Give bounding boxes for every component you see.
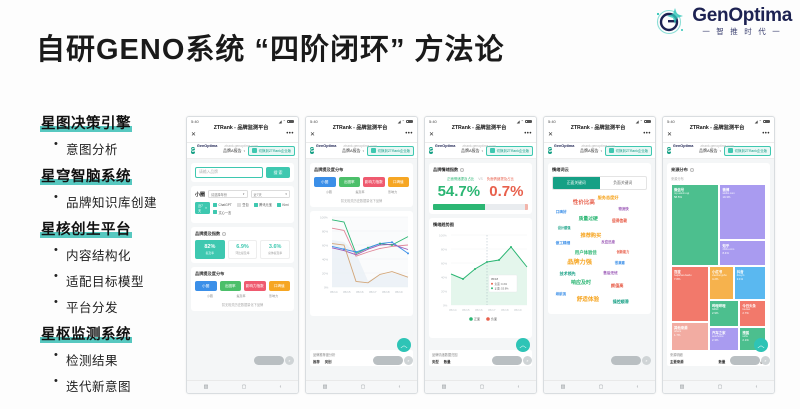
word-cloud-term[interactable]: 用户体验佳 bbox=[575, 251, 597, 255]
card-subtitle: 来源分布 bbox=[671, 176, 766, 181]
treemap-node-domain: mp.weixin.qq bbox=[674, 192, 716, 195]
more-icon[interactable]: ••• bbox=[405, 131, 413, 137]
positive-segment bbox=[433, 204, 485, 210]
metric-label: 总体提及率 bbox=[261, 251, 289, 255]
search-icon[interactable]: ⌕ bbox=[642, 356, 651, 365]
outline-heading-3: 星枢监测系统 bbox=[40, 323, 132, 344]
card-title: 品牌提及度分布 bbox=[195, 271, 290, 277]
phone-sentiment: 5:40 ◢⌃ ✕ ZTRank - 品牌监测平台 ztrank.genopti… bbox=[424, 116, 537, 394]
phone-intent-analysis: 5:40 ◢⌃ ✕ ZTRank - 品牌监测平台 ztrank.genopti… bbox=[186, 116, 299, 394]
treemap-node[interactable]: 哔哩哔哩bilibili2.9% bbox=[709, 300, 739, 327]
battery-icon bbox=[287, 120, 294, 124]
card-title: 品牌提及度分布 bbox=[314, 167, 409, 173]
logo-tagline: 一 智 推 时 代 一 bbox=[702, 28, 782, 36]
treemap-node-percent: 2.7% bbox=[742, 311, 763, 315]
android-navbar: ▥ ▢ ‹ bbox=[187, 380, 298, 393]
outline-item: 迭代新意图 bbox=[54, 376, 190, 395]
checkbox-icon bbox=[277, 203, 281, 207]
word-cloud-term[interactable]: 品牌力强 bbox=[567, 260, 592, 266]
webview-title: ZTRank - 品牌监测平台 bbox=[214, 125, 269, 131]
back-icon[interactable]: ‹ bbox=[518, 384, 520, 390]
svg-text:05/19: 05/19 bbox=[514, 308, 522, 312]
info-icon bbox=[222, 232, 226, 236]
home-icon[interactable]: ▢ bbox=[361, 384, 366, 390]
card-title: 情绪词云 bbox=[552, 167, 647, 173]
app-logo-icon bbox=[429, 147, 433, 154]
battery-icon bbox=[644, 120, 651, 124]
home-icon[interactable]: ▢ bbox=[480, 384, 485, 390]
svg-text:0%: 0% bbox=[324, 286, 329, 290]
methodology-outline: 星图决策引擎 意图分析 星穹智脑系统 品牌知识库创建 星核创生平台 内容结构化 … bbox=[40, 112, 190, 402]
year-select[interactable]: 请选择年份▾ bbox=[208, 190, 248, 198]
word-cloud-term[interactable]: 质量过硬 bbox=[579, 218, 598, 223]
model-checkbox-group: ChatGPT 豆包 腾讯元宝 Kimi 文心一言 bbox=[213, 202, 290, 215]
android-navbar: ▥ ▢ ‹ bbox=[544, 380, 655, 393]
pill-button[interactable]: 小圈 bbox=[195, 281, 217, 291]
svg-text:05/15: 05/15 bbox=[343, 290, 351, 294]
info-icon bbox=[690, 168, 694, 172]
outline-group-3: 星枢监测系统 检测结果 迭代新意图 bbox=[40, 323, 190, 395]
back-icon[interactable]: ‹ bbox=[399, 384, 401, 390]
toolbar-bar[interactable] bbox=[611, 356, 641, 365]
metric-value: 3.6% bbox=[261, 244, 289, 250]
app-logo-icon bbox=[667, 147, 671, 154]
outline-item: 平台分发 bbox=[54, 297, 190, 316]
back-icon[interactable]: ‹ bbox=[637, 384, 639, 390]
treemap-node-percent: 58.5% bbox=[674, 195, 716, 199]
toolbar-bar[interactable] bbox=[730, 356, 760, 365]
search-icon[interactable]: ⌕ bbox=[523, 356, 532, 365]
table-header: 推荐 bbox=[313, 359, 320, 364]
pill-button[interactable]: 出圈率 bbox=[339, 177, 361, 187]
svg-text:0%: 0% bbox=[443, 304, 448, 308]
pill-button[interactable]: 影响力指数 bbox=[244, 281, 266, 291]
word-cloud-term[interactable]: 口碑好 bbox=[556, 211, 567, 215]
sentiment-progress-bar bbox=[433, 204, 528, 210]
scroll-to-top-button[interactable]: ︿ bbox=[516, 338, 530, 352]
svg-text:负面: 0.4%: 负面: 0.4% bbox=[495, 282, 508, 286]
empty-note: 暂无相关历史数据量化下品牌 bbox=[195, 302, 290, 307]
treemap-node-domain: bilibili bbox=[712, 308, 736, 311]
word-cloud-term[interactable]: 操控顺滑 bbox=[613, 300, 629, 304]
webview-url: ztrank.genoptima.com bbox=[224, 144, 257, 148]
table-header: 主要来源 bbox=[670, 359, 684, 364]
toolbar-bar[interactable] bbox=[254, 356, 284, 365]
pill-axis-labels: 小圈 提及率 影响力 bbox=[314, 190, 409, 194]
checkbox-icon bbox=[237, 203, 241, 207]
outline-item: 内容结构化 bbox=[54, 245, 190, 264]
distribution-card: 品牌提及度分布 小圈 出圈率 影响力指数 口碑值 小圈 提及率 影响力 暂无相关… bbox=[191, 267, 294, 311]
sentiment-values: 54.7% 0.7% bbox=[433, 183, 528, 200]
svg-text:05/16: 05/16 bbox=[475, 308, 483, 312]
outline-group-0: 星图决策引擎 意图分析 bbox=[40, 112, 190, 158]
app-logo-icon bbox=[310, 147, 314, 154]
treemap-node[interactable]: 抖音douyin3.1% bbox=[734, 266, 766, 300]
more-icon[interactable]: ••• bbox=[286, 131, 294, 137]
positive-label: 正面情绪提及占比 bbox=[447, 176, 474, 181]
treemap-node-percent: 2.3% bbox=[712, 338, 736, 342]
card-title: 品牌情绪指数 bbox=[433, 167, 528, 173]
search-button[interactable]: 搜 索 bbox=[266, 167, 290, 178]
treemap-node-percent: 4.2% bbox=[712, 277, 731, 281]
word-cloud-term[interactable]: 舒适体验 bbox=[577, 298, 599, 304]
treemap-node-domain: weibo.com bbox=[722, 192, 763, 195]
treemap-node-percent: 7.8% bbox=[674, 277, 706, 281]
svg-text:正面: 53.9%: 正面: 53.9% bbox=[495, 286, 510, 290]
svg-text:80%: 80% bbox=[441, 248, 447, 252]
svg-text:正面: 正面 bbox=[474, 317, 480, 321]
table-header: 数量 bbox=[444, 359, 451, 364]
treemap-node-percent: 2.9% bbox=[712, 311, 736, 315]
treemap-node[interactable]: 小红书xiaohongshu4.2% bbox=[709, 266, 734, 300]
logo-wordmark: GenOptima bbox=[692, 6, 792, 25]
webview-titlebar: ✕ ZTRank - 品牌监测平台 ztrank.genoptima.com •… bbox=[544, 126, 655, 143]
filter-label: 小圈 bbox=[195, 191, 205, 198]
outline-heading-0: 星图决策引擎 bbox=[40, 112, 132, 133]
svg-text:60%: 60% bbox=[322, 244, 328, 248]
axis-label: 小圈 bbox=[326, 190, 332, 194]
battery-icon bbox=[406, 120, 413, 124]
toolbar-bar[interactable] bbox=[492, 356, 522, 365]
phone-screenshot-row: 5:40 ◢⌃ ✕ ZTRank - 品牌监测平台 ztrank.genopti… bbox=[186, 116, 775, 394]
scroll-to-top-button[interactable]: ︿ bbox=[397, 338, 411, 352]
home-icon[interactable]: ▢ bbox=[599, 384, 604, 390]
word-cloud-term[interactable]: 做工精细 bbox=[556, 242, 570, 246]
chevron-down-icon: ▾ bbox=[243, 192, 245, 196]
app-logo-icon bbox=[191, 147, 195, 154]
treemap-node[interactable]: 微博weibo.com19.3% bbox=[719, 184, 766, 240]
android-navbar: ▥ ▢ ‹ bbox=[663, 380, 774, 393]
card-title: 品牌提及指数 bbox=[195, 231, 290, 237]
pill-axis-labels: 小圈 提及率 影响力 bbox=[195, 294, 290, 298]
checkbox-icon bbox=[213, 210, 217, 214]
phone-content: 来源分布 来源分布 微信号mp.weixin.qq58.5%微博weibo.co… bbox=[663, 159, 774, 380]
treemap-node[interactable]: 微信号mp.weixin.qq58.5% bbox=[671, 184, 719, 266]
metric-card[interactable]: 82% 提及率 bbox=[195, 240, 225, 260]
outline-group-1: 星穹智脑系统 品牌知识库创建 bbox=[40, 165, 190, 211]
outline-heading-1: 星穹智脑系统 bbox=[40, 165, 132, 186]
webview-titlebar: ✕ ZTRank - 品牌监测平台 ztrank.genoptima.com •… bbox=[425, 126, 536, 143]
chevron-down-icon: ▾ bbox=[285, 192, 287, 196]
pill-button[interactable]: 口碑值 bbox=[388, 177, 410, 187]
webview-titlebar: ✕ ZTRank - 品牌监测平台 ztrank.genoptima.com •… bbox=[306, 126, 417, 143]
pill-button[interactable]: 口碑值 bbox=[269, 281, 291, 291]
axis-label: 影响力 bbox=[269, 294, 278, 298]
close-icon: × bbox=[205, 206, 207, 210]
treemap-node-percent: 3.1% bbox=[737, 277, 763, 281]
word-cloud: 性价比高服务态度好口碑好物流快质量过硬值得信赖设计感强推荐购买做工精细反应迅速用… bbox=[552, 194, 647, 312]
outline-item: 意图分析 bbox=[54, 139, 190, 158]
word-cloud-term[interactable]: 响应及时 bbox=[571, 281, 591, 286]
svg-text:100%: 100% bbox=[320, 216, 328, 220]
negative-label: 负面情绪提及占比 bbox=[487, 176, 514, 181]
table-header: 类型 bbox=[432, 359, 439, 364]
treemap-node-percent: 1.7% bbox=[674, 333, 706, 337]
negative-segment bbox=[525, 204, 528, 210]
sentiment-area-chart: 100%80%60% 40%20%0% 05/1405/1505/16 05/1… bbox=[433, 231, 528, 334]
tab-positive-keywords[interactable]: 正面关键词 bbox=[553, 177, 600, 189]
word-cloud-term[interactable]: 反应迅速 bbox=[601, 241, 615, 244]
outline-item: 适配目标模型 bbox=[54, 271, 190, 290]
treemap-node-domain: autohome bbox=[712, 335, 736, 338]
outline-item: 品牌知识库创建 bbox=[54, 192, 190, 211]
pill-group: 小圈 出圈率 影响力指数 口碑值 bbox=[314, 177, 409, 187]
phone-content: 请输入品牌 搜 索 小圈 请选择年份▾ 近7天▾ 近7天× ChatGPT 豆包… bbox=[187, 159, 298, 380]
phone-keyword-cloud: 5:40 ◢⌃ ✕ ZTRank - 品牌监测平台 ztrank.genopti… bbox=[543, 116, 656, 394]
treemap-node-domain: baijiahao.baidu bbox=[674, 274, 706, 277]
svg-text:20%: 20% bbox=[441, 290, 447, 294]
treemap-node-domain: zhihu.com bbox=[722, 248, 763, 251]
metric-label: 提及率 bbox=[196, 251, 224, 255]
empty-note: 暂无相关历史数据量化下品牌 bbox=[314, 198, 409, 203]
webview-url: ztrank.genoptima.com bbox=[700, 144, 733, 148]
battery-icon bbox=[763, 120, 770, 124]
sentiment-tab-switch: 正面关键词 负面关键词 bbox=[552, 176, 647, 190]
keyword-cloud-card: 情绪词云 正面关键词 负面关键词 性价比高服务态度好口碑好物流快质量过硬值得信赖… bbox=[548, 163, 651, 314]
word-cloud-term[interactable]: 服务态度好 bbox=[598, 196, 619, 200]
word-cloud-term[interactable]: 续航强 bbox=[556, 293, 566, 296]
word-cloud-term[interactable]: 售后无忧 bbox=[603, 272, 617, 276]
positive-value: 54.7% bbox=[438, 183, 481, 200]
search-card: 请输入品牌 搜 索 bbox=[191, 163, 294, 182]
brand-trend-line-chart: 100%80%60% 40%20%0% 05/1405/1505/16 05/1… bbox=[314, 215, 409, 312]
treemap-node-percent: 19.3% bbox=[722, 195, 763, 199]
more-icon[interactable]: ••• bbox=[643, 131, 651, 137]
word-cloud-term[interactable]: 物流快 bbox=[619, 208, 629, 211]
treemap-node-domain: xiaohongshu bbox=[712, 274, 731, 277]
webview-title: ZTRank - 品牌监测平台 bbox=[690, 125, 745, 131]
floating-toolbar[interactable]: ⌕ bbox=[611, 356, 651, 365]
word-cloud-term[interactable]: 值得信赖 bbox=[612, 220, 627, 224]
treemap-node-domain: toutiao bbox=[742, 308, 763, 311]
scroll-to-top-button[interactable]: ︿ bbox=[754, 338, 768, 352]
svg-text:05/16: 05/16 bbox=[356, 290, 364, 294]
webview-url: ztrank.genoptima.com bbox=[343, 144, 376, 148]
metric-value: 6.9% bbox=[229, 244, 257, 250]
pill-group: 小圈 出圈率 影响力指数 口碑值 bbox=[195, 281, 290, 291]
phone-content: 品牌提及度分布 小圈 出圈率 影响力指数 口碑值 小圈 提及率 影响力 暂无相关… bbox=[306, 159, 417, 380]
svg-text:40%: 40% bbox=[322, 258, 328, 262]
metric-card[interactable]: 3.6% 总体提及率 bbox=[260, 240, 290, 260]
page-title: 自研GENO系统 “四阶闭环” 方法论 bbox=[36, 26, 505, 68]
outline-heading-2: 星核创生平台 bbox=[40, 218, 132, 239]
axis-label: 提及率 bbox=[355, 190, 364, 194]
metric-card[interactable]: 6.9% 环比提及率 bbox=[228, 240, 258, 260]
pill-button[interactable]: 出圈率 bbox=[220, 281, 242, 291]
axis-label: 小圈 bbox=[207, 294, 213, 298]
word-cloud-term[interactable]: 性价比高 bbox=[573, 201, 595, 207]
svg-text:05/18: 05/18 bbox=[491, 277, 498, 281]
recents-icon[interactable]: ▥ bbox=[442, 384, 447, 390]
floating-toolbar[interactable]: ⌕ bbox=[730, 356, 770, 365]
word-cloud-term[interactable]: 设计感强 bbox=[558, 227, 571, 230]
treemap-node-domain: douyin bbox=[737, 274, 763, 277]
sentiment-labels: 正面情绪提及占比 VS 负面情绪提及占比 bbox=[433, 176, 528, 181]
android-navbar: ▥ ▢ ‹ bbox=[425, 380, 536, 393]
sentiment-trend-card: 情绪趋势图 100%80%60% 40%20%0% 05/1405/1505/1… bbox=[429, 218, 532, 338]
android-navbar: ▥ ▢ ‹ bbox=[306, 380, 417, 393]
more-icon[interactable]: ••• bbox=[524, 131, 532, 137]
webview-url: ztrank.genoptima.com bbox=[462, 144, 495, 148]
battery-icon bbox=[525, 120, 532, 124]
word-cloud-term[interactable]: 技术领先 bbox=[560, 272, 576, 276]
checkbox-icon bbox=[213, 203, 217, 207]
treemap-node-percent: 8.4% bbox=[722, 251, 763, 255]
word-cloud-term[interactable]: 推荐购买 bbox=[581, 234, 602, 239]
outline-item: 检测结果 bbox=[54, 350, 190, 369]
webview-url: ztrank.genoptima.com bbox=[581, 144, 614, 148]
pill-button[interactable]: 影响力指数 bbox=[363, 177, 385, 187]
axis-label: 提及率 bbox=[236, 294, 245, 298]
card-title: 情绪趋势图 bbox=[433, 222, 528, 228]
recents-icon[interactable]: ▥ bbox=[204, 384, 209, 390]
webview-title: ZTRank - 品牌监测平台 bbox=[452, 125, 507, 131]
brand-search-input[interactable]: 请输入品牌 bbox=[195, 167, 263, 178]
treemap-node-domain: others bbox=[674, 330, 706, 333]
negative-value: 0.7% bbox=[489, 183, 523, 200]
svg-text:05/19: 05/19 bbox=[395, 290, 403, 294]
phone-source-treemap: 5:40 ◢⌃ ✕ ZTRank - 品牌监测平台 ztrank.genopti… bbox=[662, 116, 775, 394]
svg-text:负面: 负面 bbox=[491, 316, 497, 321]
svg-text:05/15: 05/15 bbox=[462, 308, 470, 312]
word-cloud-term[interactable]: 颜值高 bbox=[611, 284, 624, 288]
home-icon[interactable]: ▢ bbox=[718, 384, 723, 390]
svg-text:20%: 20% bbox=[322, 272, 328, 276]
floating-toolbar[interactable]: ⌕ bbox=[254, 356, 294, 365]
model-checkbox[interactable]: 豆包 bbox=[237, 202, 249, 207]
webview-title: ZTRank - 品牌监测平台 bbox=[571, 125, 626, 131]
info-icon bbox=[460, 168, 464, 172]
phone-content: 情绪词云 正面关键词 负面关键词 性价比高服务态度好口碑好物流快质量过硬值得信赖… bbox=[544, 159, 655, 380]
word-cloud-term[interactable]: 很满意 bbox=[615, 262, 625, 265]
tab-negative-keywords[interactable]: 负面关键词 bbox=[600, 177, 647, 189]
metric-value: 82% bbox=[196, 244, 224, 250]
floating-toolbar[interactable]: ⌕ bbox=[492, 356, 532, 365]
svg-text:60%: 60% bbox=[441, 262, 447, 266]
model-checkbox[interactable]: 文心一言 bbox=[213, 210, 231, 215]
webview-titlebar: ✕ ZTRank - 品牌监测平台 ztrank.genoptima.com •… bbox=[187, 126, 298, 143]
svg-text:40%: 40% bbox=[441, 276, 447, 280]
range-select[interactable]: 近7天▾ bbox=[251, 190, 291, 198]
svg-text:05/14: 05/14 bbox=[449, 308, 457, 312]
webview-titlebar: ✕ ZTRank - 品牌监测平台 ztrank.genoptima.com •… bbox=[663, 126, 774, 143]
metric-group: 82% 提及率 6.9% 环比提及率 3.6% 总体提及率 bbox=[195, 240, 290, 260]
distribution-card: 品牌提及度分布 小圈 出圈率 影响力指数 口碑值 小圈 提及率 影响力 暂无相关… bbox=[310, 163, 413, 207]
webview-title: ZTRank - 品牌监测平台 bbox=[333, 125, 388, 131]
treemap-node[interactable]: 知乎zhihu.com8.4% bbox=[719, 240, 766, 266]
svg-text:05/17: 05/17 bbox=[369, 290, 377, 294]
back-icon[interactable]: ‹ bbox=[756, 384, 758, 390]
recents-icon[interactable]: ▥ bbox=[323, 384, 328, 390]
treemap: 微信号mp.weixin.qq58.5%微博weibo.com19.3%知乎zh… bbox=[671, 184, 766, 354]
model-checkbox[interactable]: 腾讯元宝 bbox=[254, 202, 272, 207]
sentiment-index-card: 品牌情绪指数 正面情绪提及占比 VS 负面情绪提及占比 54.7% 0.7% bbox=[429, 163, 532, 214]
card-title: 来源分布 bbox=[671, 167, 766, 173]
app-logo-icon bbox=[548, 147, 552, 154]
back-icon[interactable]: ‹ bbox=[280, 384, 282, 390]
filter-card: 小圈 请选择年份▾ 近7天▾ 近7天× ChatGPT 豆包 腾讯元宝 Kimi… bbox=[191, 186, 294, 223]
word-cloud-term[interactable]: 创新能力 bbox=[617, 251, 630, 254]
metric-label: 环比提及率 bbox=[229, 251, 257, 255]
svg-text:100%: 100% bbox=[439, 234, 447, 238]
brand-logo: GenOptima 一 智 推 时 代 一 bbox=[653, 4, 792, 38]
more-icon[interactable]: ••• bbox=[762, 131, 770, 137]
source-distribution-card: 来源分布 来源分布 微信号mp.weixin.qq58.5%微博weibo.co… bbox=[667, 163, 770, 358]
model-checkbox[interactable]: Kimi bbox=[277, 202, 289, 207]
phone-content: 品牌情绪指数 正面情绪提及占比 VS 负面情绪提及占比 54.7% 0.7% 情… bbox=[425, 159, 536, 380]
recents-icon[interactable]: ▥ bbox=[680, 384, 685, 390]
trend-chart-card: 100%80%60% 40%20%0% 05/1405/1505/16 05/1… bbox=[310, 211, 413, 316]
search-icon[interactable]: ⌕ bbox=[285, 356, 294, 365]
svg-text:05/18: 05/18 bbox=[501, 308, 509, 312]
home-icon[interactable]: ▢ bbox=[242, 384, 247, 390]
search-icon[interactable]: ⌕ bbox=[404, 356, 413, 365]
svg-text:05/14: 05/14 bbox=[330, 290, 338, 294]
axis-label: 影响力 bbox=[388, 190, 397, 194]
svg-text:05/18: 05/18 bbox=[382, 290, 390, 294]
table-header: 数量 bbox=[719, 359, 726, 364]
svg-text:80%: 80% bbox=[322, 230, 328, 234]
phone-brand-trend: 5:40 ◢⌃ ✕ ZTRank - 品牌监测平台 ztrank.genopti… bbox=[305, 116, 418, 394]
search-icon[interactable]: ⌕ bbox=[761, 356, 770, 365]
genoptima-logo-icon bbox=[653, 4, 687, 38]
mention-index-card: 品牌提及指数 82% 提及率 6.9% 环比提及率 3.6% 总体提及率 bbox=[191, 227, 294, 264]
svg-text:05/17: 05/17 bbox=[488, 308, 496, 312]
treemap-node[interactable]: 百度baijiahao.baidu7.8% bbox=[671, 266, 709, 322]
checkbox-icon bbox=[254, 203, 258, 207]
pill-button[interactable]: 小圈 bbox=[314, 177, 336, 187]
active-filter-tag[interactable]: 近7天× bbox=[195, 202, 210, 214]
floating-toolbar[interactable]: ⌕ bbox=[373, 356, 413, 365]
model-checkbox[interactable]: ChatGPT bbox=[213, 202, 232, 207]
neutral-segment bbox=[485, 204, 525, 210]
toolbar-bar[interactable] bbox=[373, 356, 403, 365]
table-header: 类别 bbox=[325, 359, 332, 364]
outline-group-2: 星核创生平台 内容结构化 适配目标模型 平台分发 bbox=[40, 218, 190, 316]
vs-label: VS bbox=[478, 177, 483, 181]
treemap-node[interactable]: 今日头条toutiao2.7% bbox=[739, 300, 766, 327]
recents-icon[interactable]: ▥ bbox=[561, 384, 566, 390]
